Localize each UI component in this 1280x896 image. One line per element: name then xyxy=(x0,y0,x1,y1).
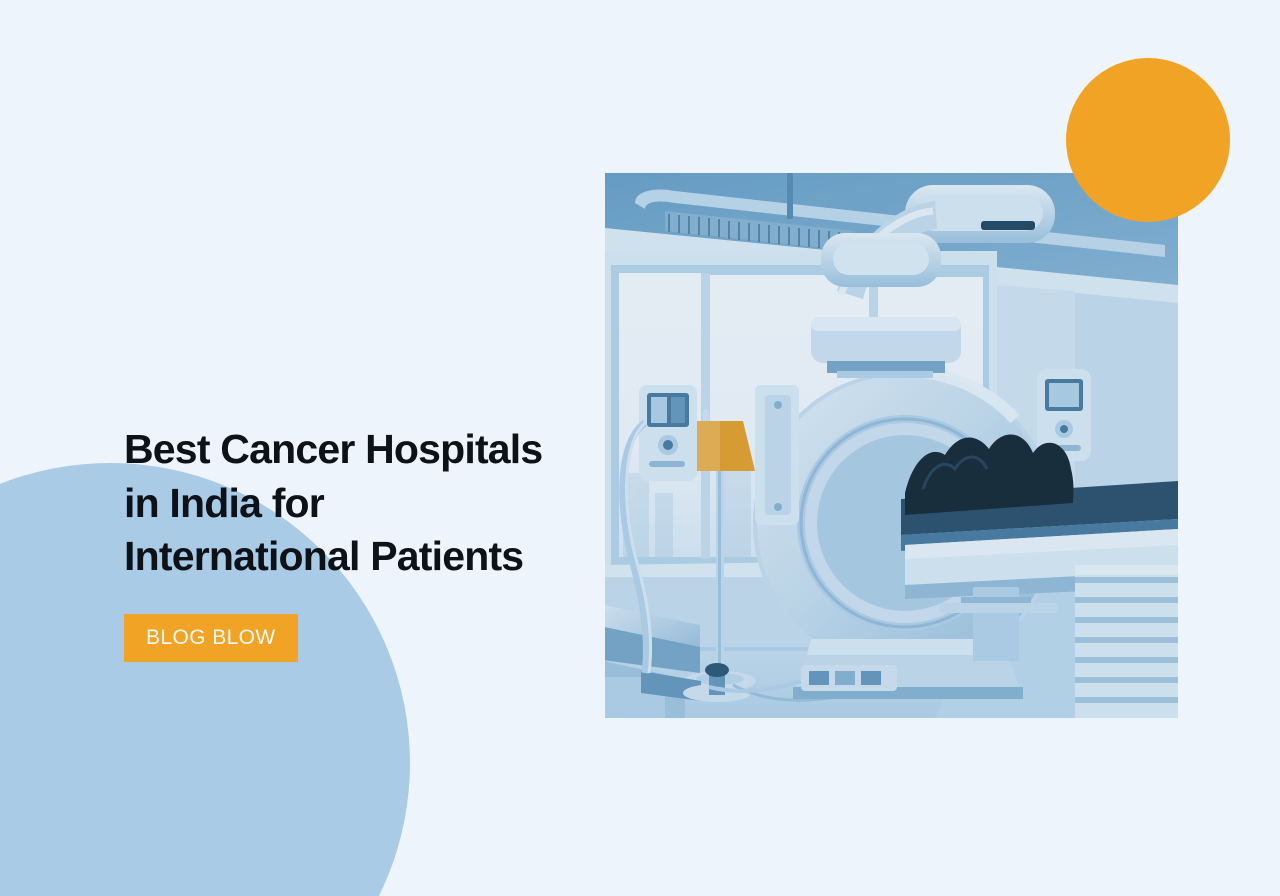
orange-circle-decoration xyxy=(1066,58,1230,222)
hospital-room-illustration xyxy=(605,173,1178,718)
blog-blow-button[interactable]: BLOG BLOW xyxy=(124,614,298,662)
page-title: Best Cancer Hospitals in India for Inter… xyxy=(124,423,624,584)
hero-photo xyxy=(605,173,1178,718)
blog-banner: Best Cancer Hospitals in India for Inter… xyxy=(0,0,1280,896)
text-column: Best Cancer Hospitals in India for Inter… xyxy=(124,423,624,662)
